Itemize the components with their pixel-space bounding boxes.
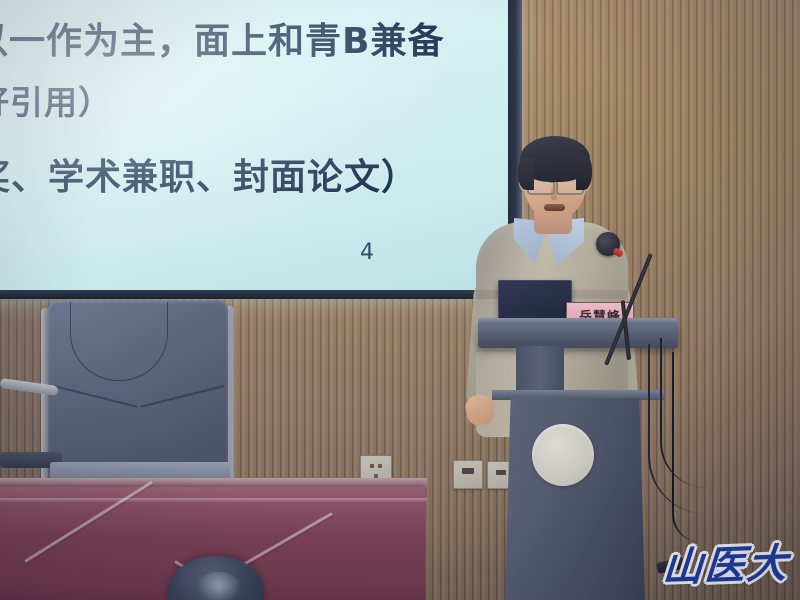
chair-seam-lower [54,385,222,427]
stage-table-trim [0,498,427,502]
hair-side-right [576,156,592,190]
screen-frame-bottom [0,290,522,299]
channel-watermark: 山医大 [660,536,792,588]
slide-line-3: 奖、学术兼职、封面论文） [0,148,418,200]
slide-page-number: 4 [360,240,374,265]
photo-scene: 以一作为主，面上和青B兼备 好引用） 奖、学术兼职、封面论文） 4 [0,0,800,600]
hanging-cable [672,352,700,542]
audience-hair-highlight [196,572,242,600]
nose [551,186,557,200]
mouth [544,204,565,211]
hair-side-left [518,158,534,190]
podium-emblem-icon [532,424,594,486]
wall-outlet-plate [453,460,483,489]
slide-line-1: 以一作为主，面上和青B兼备 [0,12,444,64]
podium-column [516,346,564,394]
watermark-text: 山医大 [661,531,791,593]
slide-line-2: 好引用） [0,76,112,124]
